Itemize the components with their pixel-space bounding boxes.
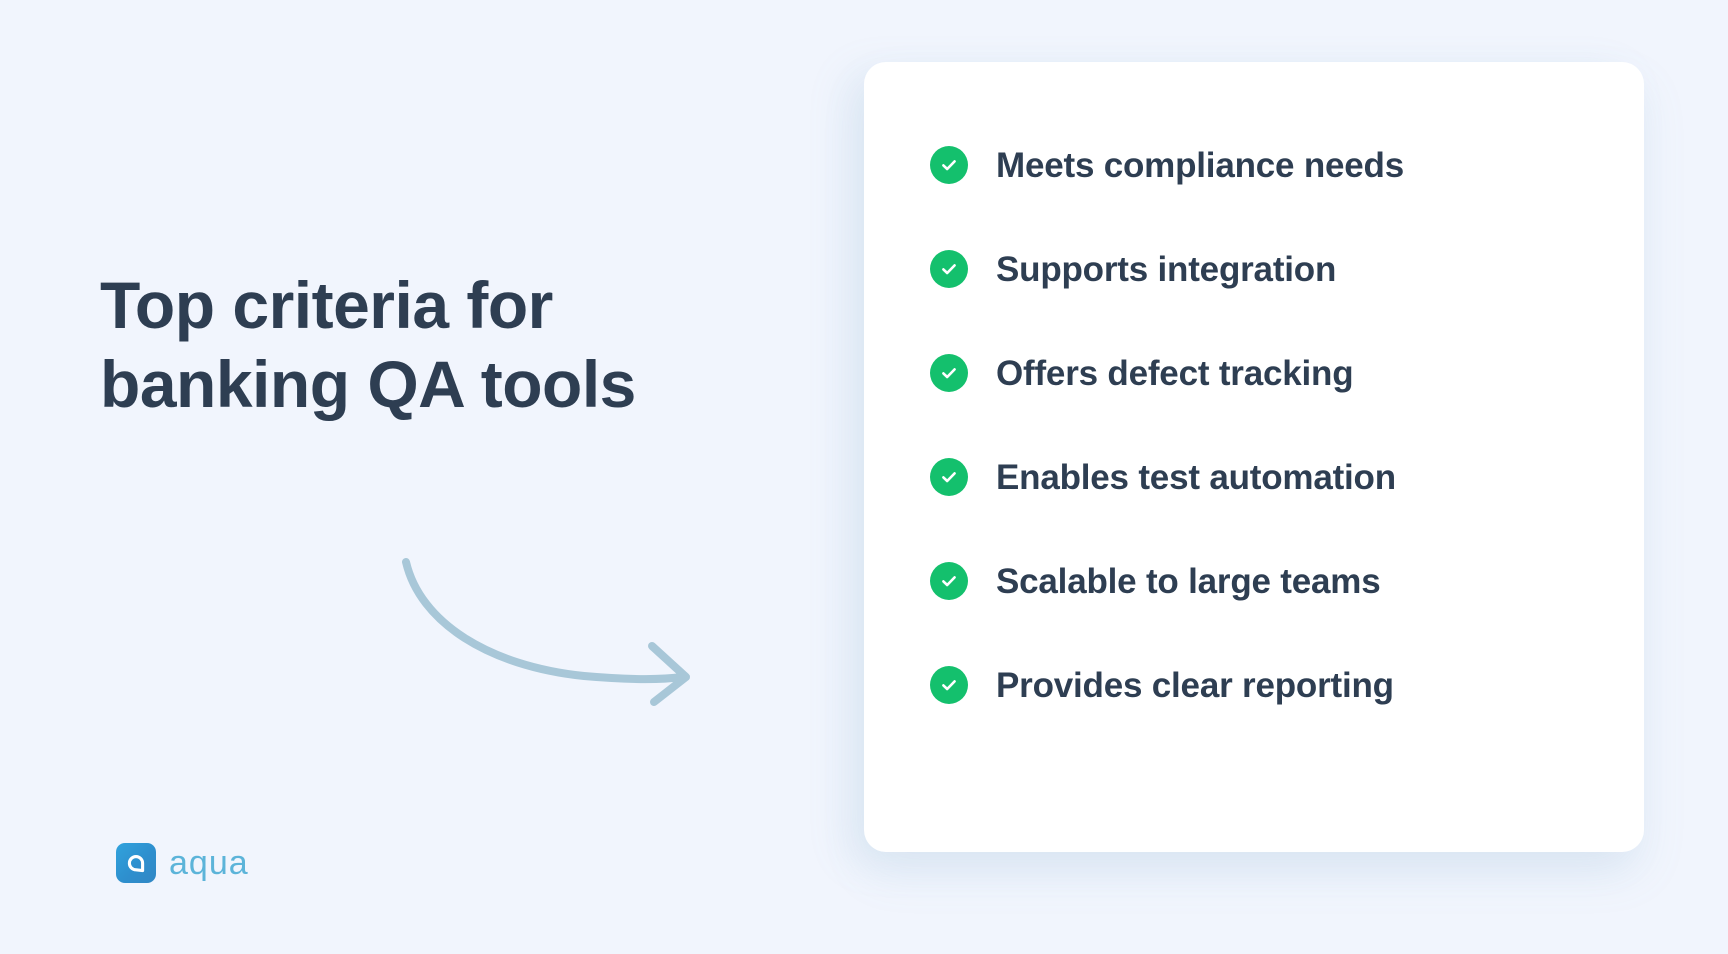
check-circle-icon: [930, 146, 968, 184]
criteria-card: Meets compliance needs Supports integrat…: [864, 62, 1644, 852]
check-circle-icon: [930, 250, 968, 288]
check-circle-icon: [930, 666, 968, 704]
check-circle-icon: [930, 562, 968, 600]
list-item-label: Supports integration: [996, 252, 1336, 287]
list-item: Provides clear reporting: [930, 663, 1604, 707]
criteria-list: Meets compliance needs Supports integrat…: [930, 143, 1604, 707]
list-item-label: Offers defect tracking: [996, 356, 1353, 391]
list-item-label: Enables test automation: [996, 460, 1396, 495]
aqua-logo-mark-icon: [116, 843, 156, 883]
aqua-logo: aqua: [116, 843, 249, 883]
list-item: Enables test automation: [930, 455, 1604, 499]
list-item-label: Scalable to large teams: [996, 564, 1380, 599]
list-item-label: Provides clear reporting: [996, 668, 1394, 703]
list-item: Meets compliance needs: [930, 143, 1604, 187]
curved-arrow-right-icon: [398, 560, 718, 700]
list-item: Offers defect tracking: [930, 351, 1604, 395]
list-item: Scalable to large teams: [930, 559, 1604, 603]
list-item-label: Meets compliance needs: [996, 148, 1404, 183]
check-circle-icon: [930, 458, 968, 496]
aqua-wordmark: aqua: [169, 846, 249, 880]
infographic-canvas: Top criteria for banking QA tools aqua M…: [0, 0, 1728, 954]
check-circle-icon: [930, 354, 968, 392]
list-item: Supports integration: [930, 247, 1604, 291]
page-title: Top criteria for banking QA tools: [100, 266, 720, 424]
